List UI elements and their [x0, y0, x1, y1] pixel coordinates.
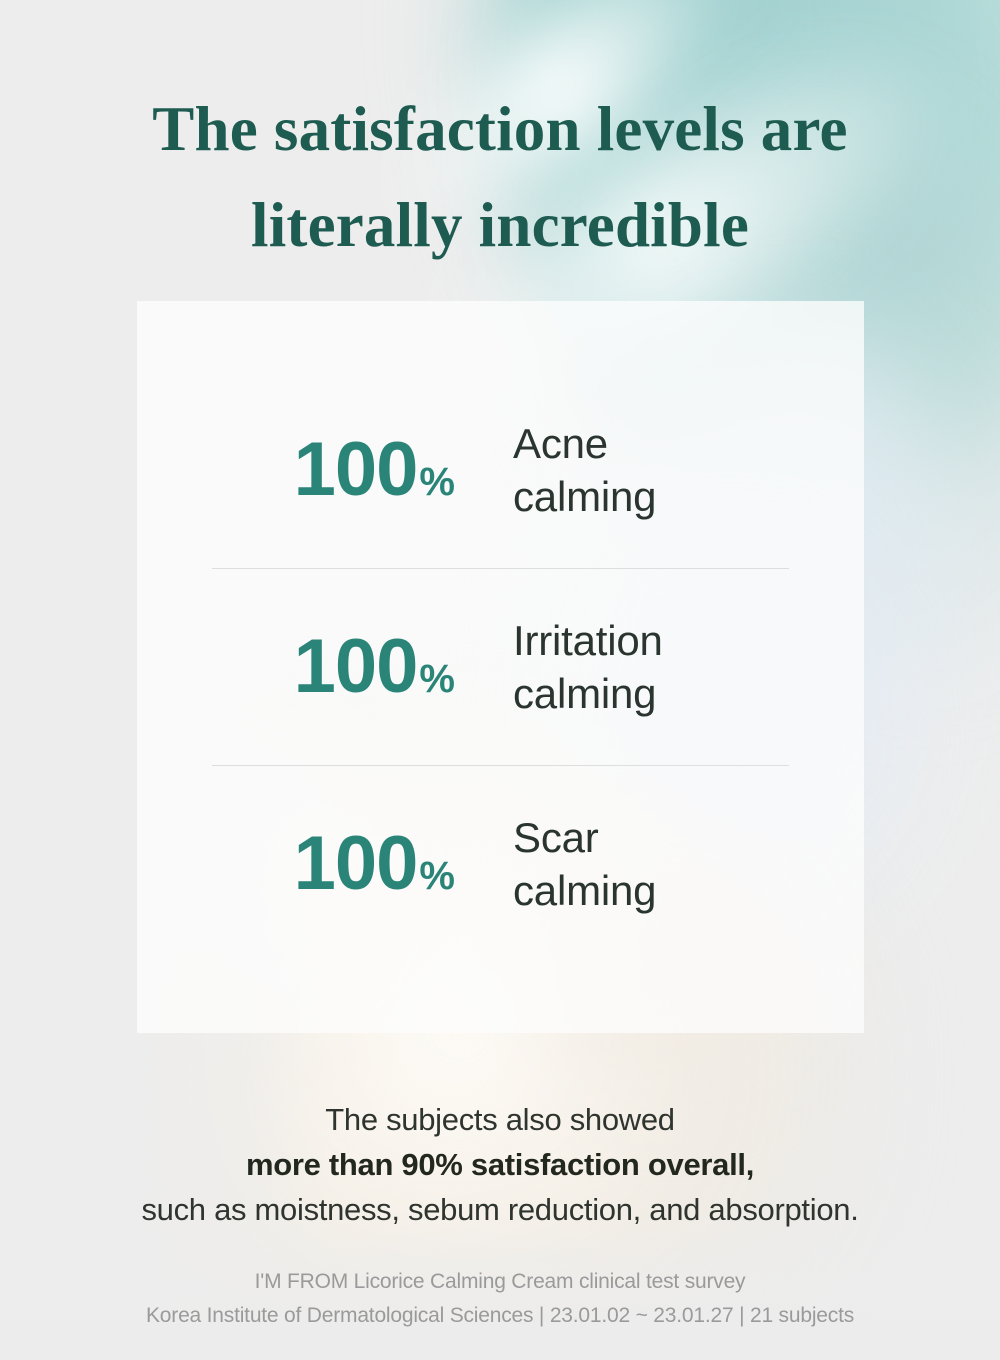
- page-title-line-1: The satisfaction levels are: [0, 82, 1000, 178]
- stat-label-line-1: Acne: [513, 420, 608, 467]
- stat-label-line-2: calming: [513, 470, 656, 523]
- stat-label-line-2: calming: [513, 667, 663, 720]
- summary-line-2-emphasis: more than 90% satisfaction overall,: [0, 1143, 1000, 1188]
- summary-text: The subjects also showed more than 90% s…: [0, 1098, 1000, 1233]
- page-title-line-2: literally incredible: [0, 178, 1000, 274]
- stat-label-line-2: calming: [513, 864, 656, 917]
- stat-row: 100% Acne calming: [137, 372, 864, 568]
- statistics-card: 100% Acne calming 100% Irritation calmin…: [137, 301, 864, 1033]
- stat-label-scar: Scar calming: [513, 811, 656, 918]
- footnote-line-1: I'M FROM Licorice Calming Cream clinical…: [0, 1265, 1000, 1299]
- stat-number: 100: [294, 624, 418, 709]
- stat-number: 100: [294, 427, 418, 512]
- promotional-infographic: The satisfaction levels are literally in…: [0, 0, 1000, 1360]
- stat-label-acne: Acne calming: [513, 417, 656, 524]
- stat-value-irritation: 100%: [195, 629, 455, 705]
- stat-value-acne: 100%: [195, 432, 455, 508]
- stat-row: 100% Irritation calming: [137, 569, 864, 765]
- stat-label-line-1: Irritation: [513, 617, 663, 664]
- footnote-source: I'M FROM Licorice Calming Cream clinical…: [0, 1265, 1000, 1333]
- page-title: The satisfaction levels are literally in…: [0, 82, 1000, 274]
- stat-label-irritation: Irritation calming: [513, 614, 663, 721]
- footnote-line-2: Korea Institute of Dermatological Scienc…: [0, 1299, 1000, 1333]
- summary-line-3: such as moistness, sebum reduction, and …: [0, 1188, 1000, 1233]
- stat-number: 100: [294, 821, 418, 906]
- percent-sign: %: [417, 460, 455, 504]
- summary-line-1: The subjects also showed: [0, 1098, 1000, 1143]
- stat-label-line-1: Scar: [513, 814, 599, 861]
- stat-row: 100% Scar calming: [137, 766, 864, 962]
- stat-value-scar: 100%: [195, 826, 455, 902]
- percent-sign: %: [417, 854, 455, 898]
- percent-sign: %: [417, 657, 455, 701]
